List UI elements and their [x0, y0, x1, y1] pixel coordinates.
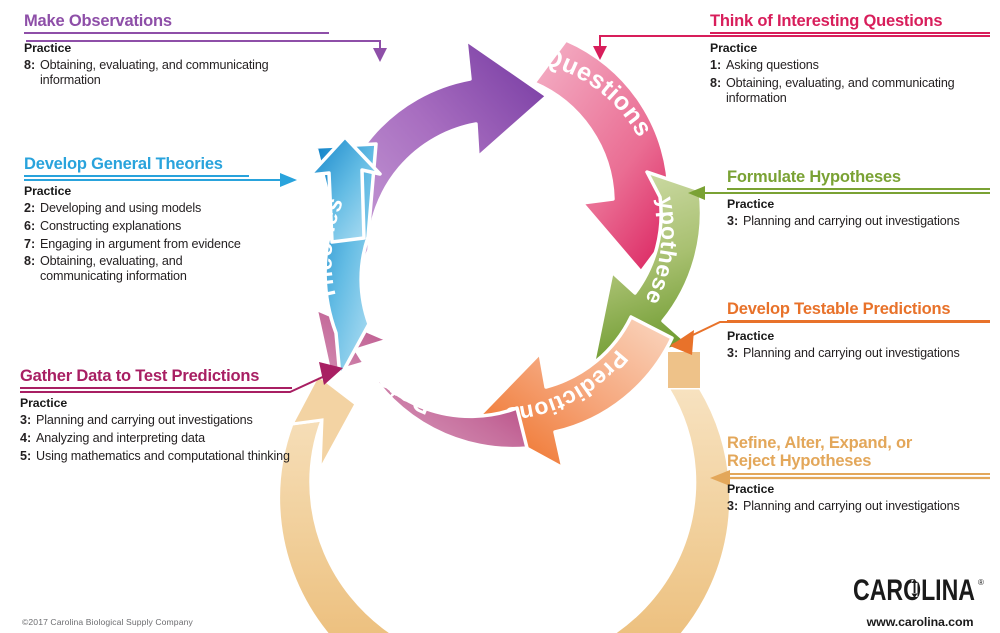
- practice-text: Obtaining, evaluating, and communicating…: [40, 58, 329, 87]
- practice-number: 1:: [710, 58, 726, 73]
- practice-item: 8: Obtaining, evaluating, and communicat…: [24, 254, 249, 283]
- block-title-predictions: Develop Testable Predictions: [727, 300, 990, 318]
- practice-list-observations: 8: Obtaining, evaluating, and communicat…: [24, 58, 329, 87]
- diagram-page: Refine Hypotheses Observations Questions…: [0, 0, 1000, 633]
- carolina-logo: CAROLINA ® www.carolina.com: [853, 572, 987, 629]
- practice-text: Planning and carrying out investigations: [743, 346, 990, 361]
- registered-trademark-icon: ®: [978, 578, 984, 587]
- practice-text: Asking questions: [726, 58, 990, 73]
- block-formulate-hypotheses: Formulate Hypotheses Practice 3: Plannin…: [727, 168, 990, 229]
- practice-number: 8:: [710, 76, 726, 105]
- practice-number: 3:: [727, 346, 743, 361]
- practice-item: 3: Planning and carrying out investigati…: [727, 499, 990, 514]
- practice-text: Obtaining, evaluating, and communicating…: [40, 254, 249, 283]
- block-develop-general-theories: Develop General Theories Practice 2: Dev…: [24, 155, 249, 283]
- copyright-notice: ©2017 Carolina Biological Supply Company: [22, 617, 193, 627]
- practice-item: 8: Obtaining, evaluating, and communicat…: [710, 76, 990, 105]
- practice-item: 5: Using mathematics and computational t…: [20, 449, 292, 464]
- practice-text: Obtaining, evaluating, and communicating…: [726, 76, 990, 105]
- block-title-questions: Think of Interesting Questions: [710, 12, 990, 30]
- block-title-theories: Develop General Theories: [24, 155, 249, 173]
- practice-number: 4:: [20, 431, 36, 446]
- practice-item: 1: Asking questions: [710, 58, 990, 73]
- block-gather-data-to-test-predictions: Gather Data to Test Predictions Practice…: [20, 367, 292, 463]
- practice-label-data: Practice: [20, 396, 292, 410]
- practice-number: 8:: [24, 58, 40, 87]
- practice-item: 8: Obtaining, evaluating, and communicat…: [24, 58, 329, 87]
- practice-item: 3: Planning and carrying out investigati…: [727, 346, 990, 361]
- block-title-rule: [727, 320, 990, 322]
- practice-label-observations: Practice: [24, 41, 329, 55]
- practice-number: 3:: [727, 499, 743, 514]
- arc-label-refine: Refine Hypotheses: [393, 533, 630, 592]
- practice-label-hypotheses: Practice: [727, 197, 990, 211]
- practice-list-theories: 2: Developing and using models 6: Constr…: [24, 201, 249, 283]
- block-think-of-interesting-questions: Think of Interesting Questions Practice …: [710, 12, 990, 105]
- carolina-wordmark: CAROLINA ®: [853, 572, 987, 608]
- block-title-observations: Make Observations: [24, 12, 329, 30]
- practice-list-predictions: 3: Planning and carrying out investigati…: [727, 346, 990, 361]
- practice-text: Analyzing and interpreting data: [36, 431, 292, 446]
- block-title-rule: [24, 32, 329, 34]
- practice-text: Developing and using models: [40, 201, 249, 216]
- block-title-rule: [727, 473, 990, 475]
- practice-text: Using mathematics and computational thin…: [36, 449, 292, 464]
- practice-item: 3: Planning and carrying out investigati…: [727, 214, 990, 229]
- block-title-rule: [710, 32, 990, 34]
- block-title-hypotheses: Formulate Hypotheses: [727, 168, 990, 186]
- practice-number: 6:: [24, 219, 40, 234]
- practice-text: Planning and carrying out investigations: [36, 413, 292, 428]
- practice-number: 3:: [727, 214, 743, 229]
- block-title-refine: Refine, Alter, Expand, or Reject Hypothe…: [727, 434, 990, 471]
- practice-list-questions: 1: Asking questions 8: Obtaining, evalua…: [710, 58, 990, 105]
- practice-number: 8:: [24, 254, 40, 283]
- block-refine-alter-expand-reject-hypotheses: Refine, Alter, Expand, or Reject Hypothe…: [727, 434, 990, 514]
- practice-label-refine: Practice: [727, 482, 990, 496]
- practice-item: 4: Analyzing and interpreting data: [20, 431, 292, 446]
- practice-text: Engaging in argument from evidence: [40, 237, 249, 252]
- practice-label-questions: Practice: [710, 41, 990, 55]
- carolina-url: www.carolina.com: [853, 615, 987, 629]
- block-title-data: Gather Data to Test Predictions: [20, 367, 292, 385]
- block-make-observations: Make Observations Practice 8: Obtaining,…: [24, 12, 329, 88]
- practice-label-theories: Practice: [24, 184, 249, 198]
- practice-list-refine: 3: Planning and carrying out investigati…: [727, 499, 990, 514]
- practice-number: 3:: [20, 413, 36, 428]
- practice-label-predictions: Practice: [727, 329, 990, 343]
- practice-list-hypotheses: 3: Planning and carrying out investigati…: [727, 214, 990, 229]
- practice-text: Constructing explanations: [40, 219, 249, 234]
- practice-item: 7: Engaging in argument from evidence: [24, 237, 249, 252]
- practice-number: 5:: [20, 449, 36, 464]
- practice-item: 2: Developing and using models: [24, 201, 249, 216]
- arc-label-data: Data: [371, 366, 436, 420]
- practice-text: Planning and carrying out investigations: [743, 499, 990, 514]
- practice-number: 2:: [24, 201, 40, 216]
- practice-list-data: 3: Planning and carrying out investigati…: [20, 413, 292, 463]
- practice-item: 3: Planning and carrying out investigati…: [20, 413, 292, 428]
- block-title-rule: [24, 175, 249, 177]
- block-title-rule: [727, 188, 990, 190]
- block-title-rule: [20, 387, 292, 389]
- block-develop-testable-predictions: Develop Testable Predictions Practice 3:…: [727, 300, 990, 361]
- practice-item: 6: Constructing explanations: [24, 219, 249, 234]
- practice-number: 7:: [24, 237, 40, 252]
- practice-text: Planning and carrying out investigations: [743, 214, 990, 229]
